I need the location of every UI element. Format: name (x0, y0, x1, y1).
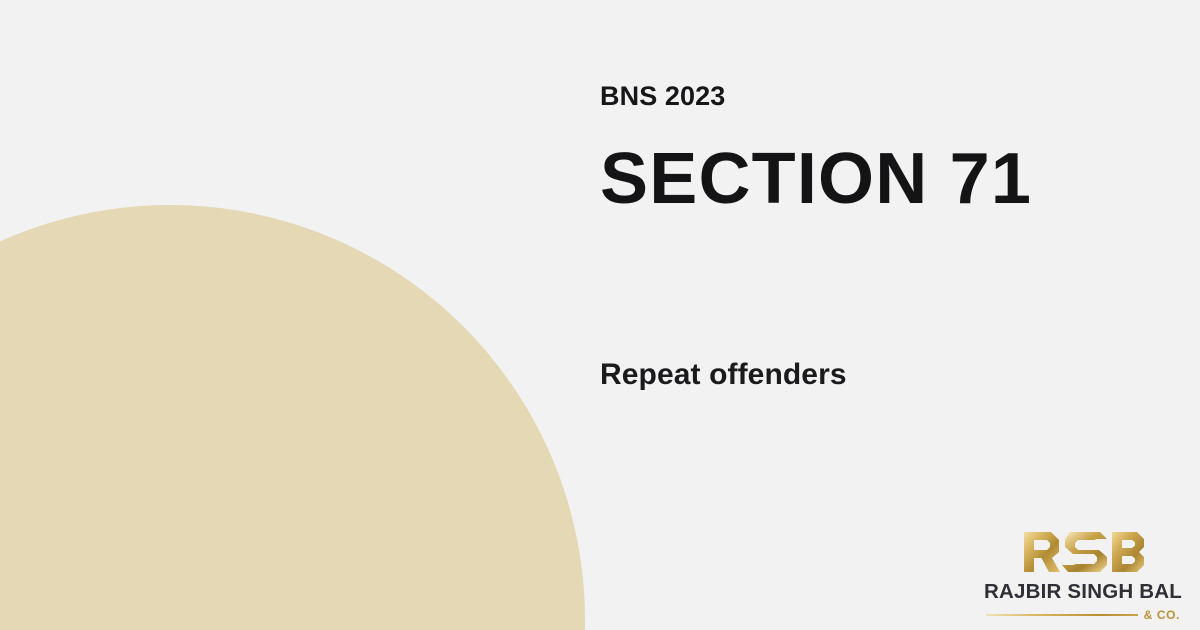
brand-logo: RAJBIR SINGH BAL & CO. (984, 528, 1182, 614)
headline-group: BNS 2023 SECTION 71 (600, 82, 1120, 217)
logo-divider-rule (986, 614, 1138, 616)
page-title: SECTION 71 (600, 142, 1120, 218)
poster-canvas: BNS 2023 SECTION 71 Repeat offenders (0, 0, 1200, 630)
subtitle-text: Repeat offenders (600, 357, 847, 393)
eyebrow-label: BNS 2023 (600, 82, 1120, 112)
decorative-circle (0, 205, 585, 630)
logo-footer: & CO. (984, 609, 1182, 621)
logo-suffix: & CO. (1144, 609, 1180, 621)
rsb-monogram-icon (1021, 528, 1145, 576)
logo-firm-name: RAJBIR SINGH BAL (984, 582, 1182, 603)
